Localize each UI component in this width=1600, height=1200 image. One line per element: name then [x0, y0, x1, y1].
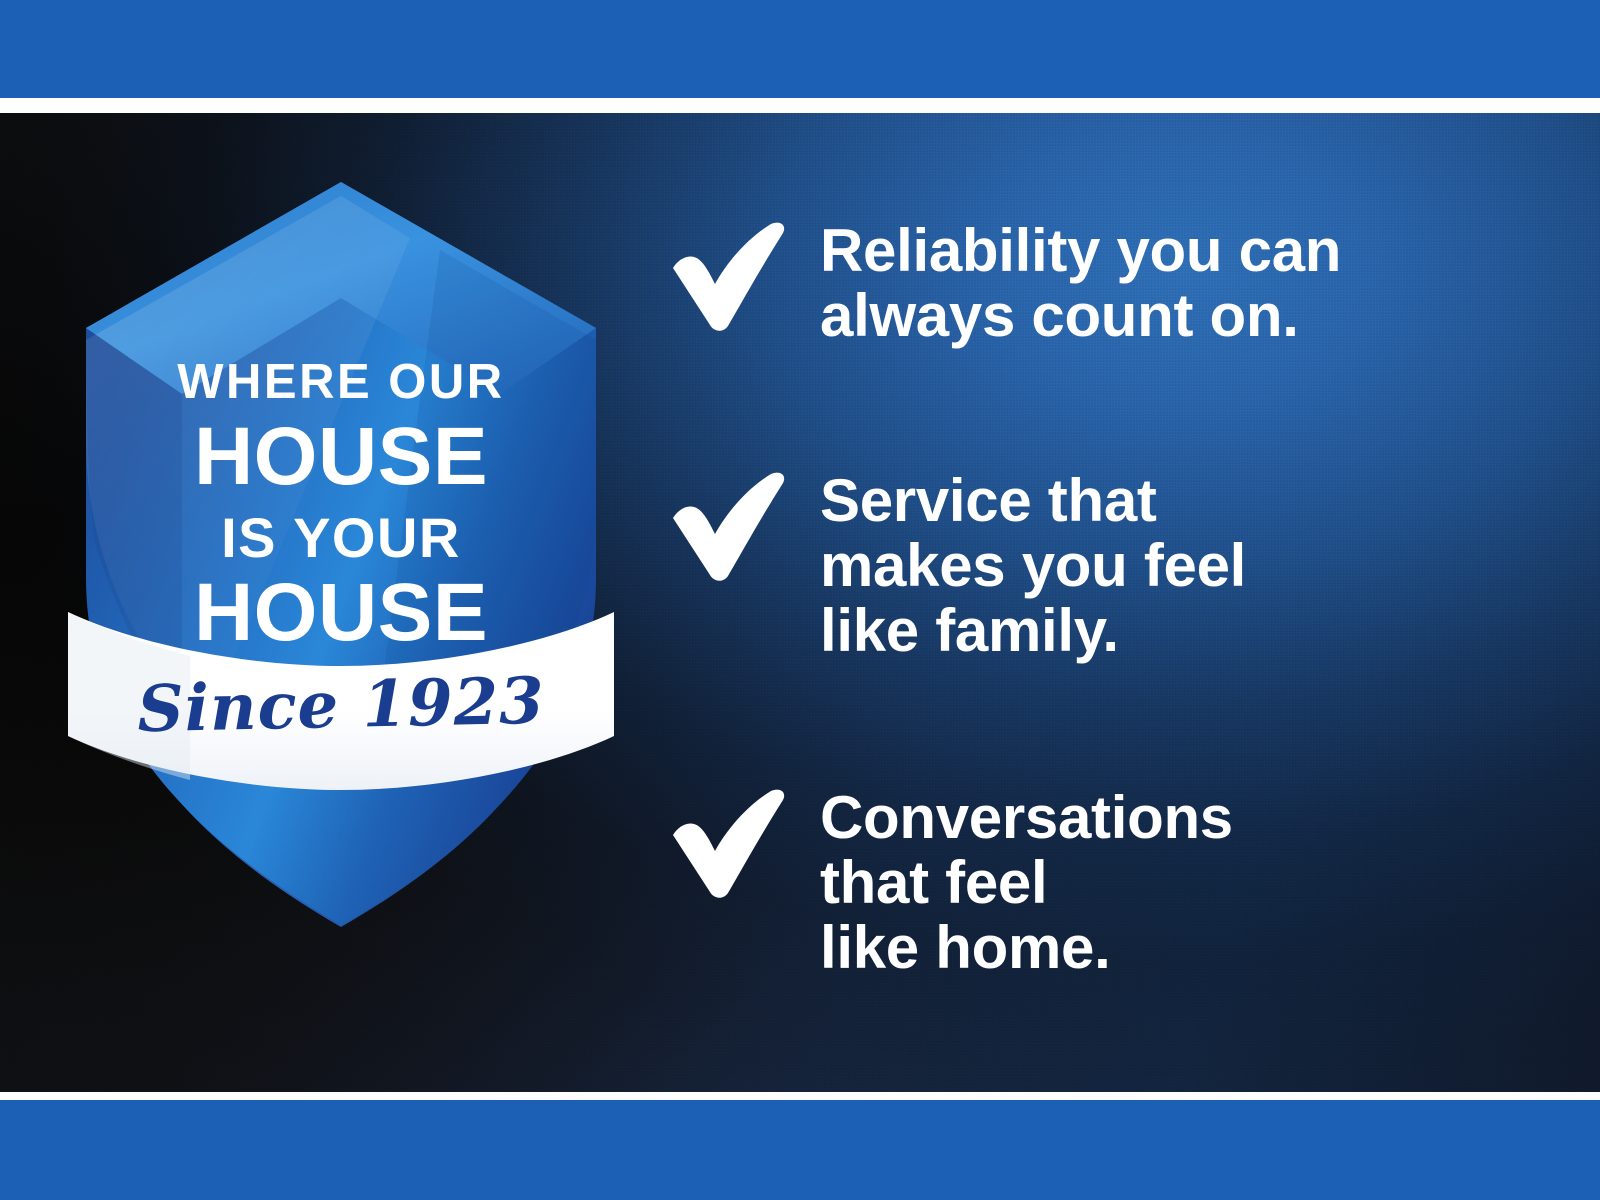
benefit-item-service: Service that makes you feel like family. [670, 468, 1500, 663]
benefit-text: Conversations that feel like home. [820, 785, 1500, 980]
benefit-text: Service that makes you feel like family. [820, 468, 1500, 663]
checkmark-icon [670, 785, 820, 897]
promo-graphic: Where Our House Is Your House Since 1923… [0, 0, 1600, 1200]
badge-ribbon-since-1923: Since 1923 [79, 663, 602, 749]
badge-line-3: Is Your [80, 510, 602, 566]
badge-line-4: House [80, 572, 602, 654]
checkmark-icon [670, 218, 820, 330]
benefits-list: Reliability you can always count on. Ser… [670, 113, 1500, 1092]
top-brand-bar [0, 0, 1600, 98]
benefit-text: Reliability you can always count on. [820, 218, 1500, 348]
checkmark-icon [670, 468, 820, 580]
badge-line-1: Where Our [80, 358, 602, 407]
bottom-white-divider [0, 1092, 1600, 1100]
bottom-brand-bar [0, 1100, 1600, 1200]
badge-line-2: House [80, 416, 602, 498]
top-white-divider [0, 98, 1600, 113]
benefit-item-conversations: Conversations that feel like home. [670, 785, 1500, 980]
benefit-item-reliability: Reliability you can always count on. [670, 218, 1500, 348]
shield-badge: Where Our House Is Your House Since 1923 [80, 180, 602, 935]
